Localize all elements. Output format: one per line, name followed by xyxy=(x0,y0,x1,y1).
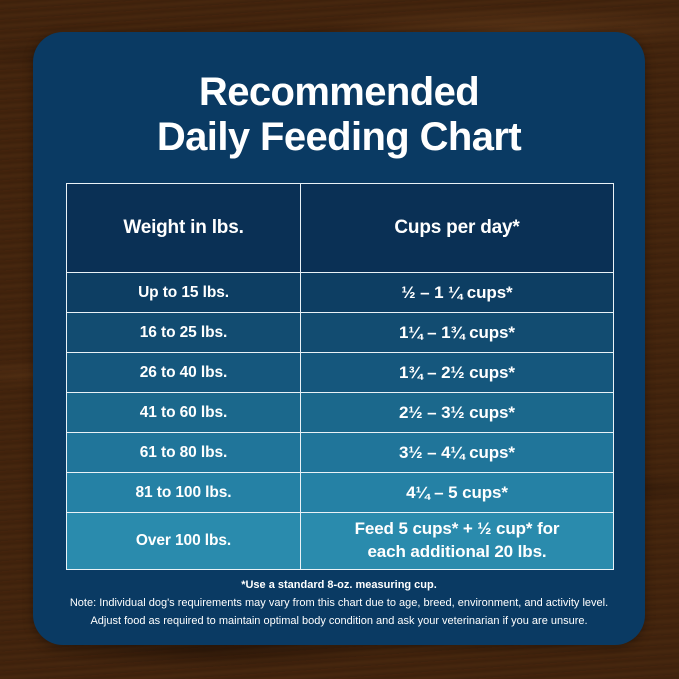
cell-cups-line-1: Feed 5 cups* + ½ cup* for xyxy=(355,519,560,538)
cell-cups-line-2: each additional 20 lbs. xyxy=(367,542,546,561)
table-row: 26 to 40 lbs. 1¾ – 2½ cups* xyxy=(67,353,614,393)
cell-cups: 1¼ – 1¾ cups* xyxy=(301,313,614,353)
footnote-measuring-cup: *Use a standard 8-oz. measuring cup. xyxy=(43,577,635,595)
cell-weight: 26 to 40 lbs. xyxy=(67,353,301,393)
cell-cups: ½ – 1 ¼ cups* xyxy=(301,273,614,313)
cell-weight: 81 to 100 lbs. xyxy=(67,473,301,513)
cell-cups: 2½ – 3½ cups* xyxy=(301,393,614,433)
footnotes: *Use a standard 8-oz. measuring cup. Not… xyxy=(33,577,645,630)
table-row: 81 to 100 lbs. 4¼ – 5 cups* xyxy=(67,473,614,513)
footnote-note: Note: Individual dog's requirements may … xyxy=(43,595,635,613)
cell-cups: 1¾ – 2½ cups* xyxy=(301,353,614,393)
cell-weight: 61 to 80 lbs. xyxy=(67,433,301,473)
column-header-weight: Weight in lbs. xyxy=(67,184,301,273)
page-title-line-2: Daily Feeding Chart xyxy=(57,115,621,160)
feeding-chart-table: Weight in lbs. Cups per day* Up to 15 lb… xyxy=(66,183,614,570)
page-title-line-1: Recommended xyxy=(57,70,621,115)
footnote-adjust: Adjust food as required to maintain opti… xyxy=(43,613,635,631)
cell-cups: Feed 5 cups* + ½ cup* for each additiona… xyxy=(301,513,614,570)
table-row: 16 to 25 lbs. 1¼ – 1¾ cups* xyxy=(67,313,614,353)
table-row: 41 to 60 lbs. 2½ – 3½ cups* xyxy=(67,393,614,433)
cell-weight: Up to 15 lbs. xyxy=(67,273,301,313)
cell-cups: 4¼ – 5 cups* xyxy=(301,473,614,513)
feeding-chart-card: Recommended Daily Feeding Chart Weight i… xyxy=(33,32,645,645)
table-row: 61 to 80 lbs. 3½ – 4¼ cups* xyxy=(67,433,614,473)
cell-weight: 41 to 60 lbs. xyxy=(67,393,301,433)
cell-weight: 16 to 25 lbs. xyxy=(67,313,301,353)
table-header: Weight in lbs. Cups per day* xyxy=(67,184,614,273)
cell-cups: 3½ – 4¼ cups* xyxy=(301,433,614,473)
cell-weight: Over 100 lbs. xyxy=(67,513,301,570)
table-header-row: Weight in lbs. Cups per day* xyxy=(67,184,614,273)
table-row: Up to 15 lbs. ½ – 1 ¼ cups* xyxy=(67,273,614,313)
page-title: Recommended Daily Feeding Chart xyxy=(33,70,645,160)
table-row: Over 100 lbs. Feed 5 cups* + ½ cup* for … xyxy=(67,513,614,570)
column-header-cups: Cups per day* xyxy=(301,184,614,273)
table-body: Up to 15 lbs. ½ – 1 ¼ cups* 16 to 25 lbs… xyxy=(67,273,614,570)
